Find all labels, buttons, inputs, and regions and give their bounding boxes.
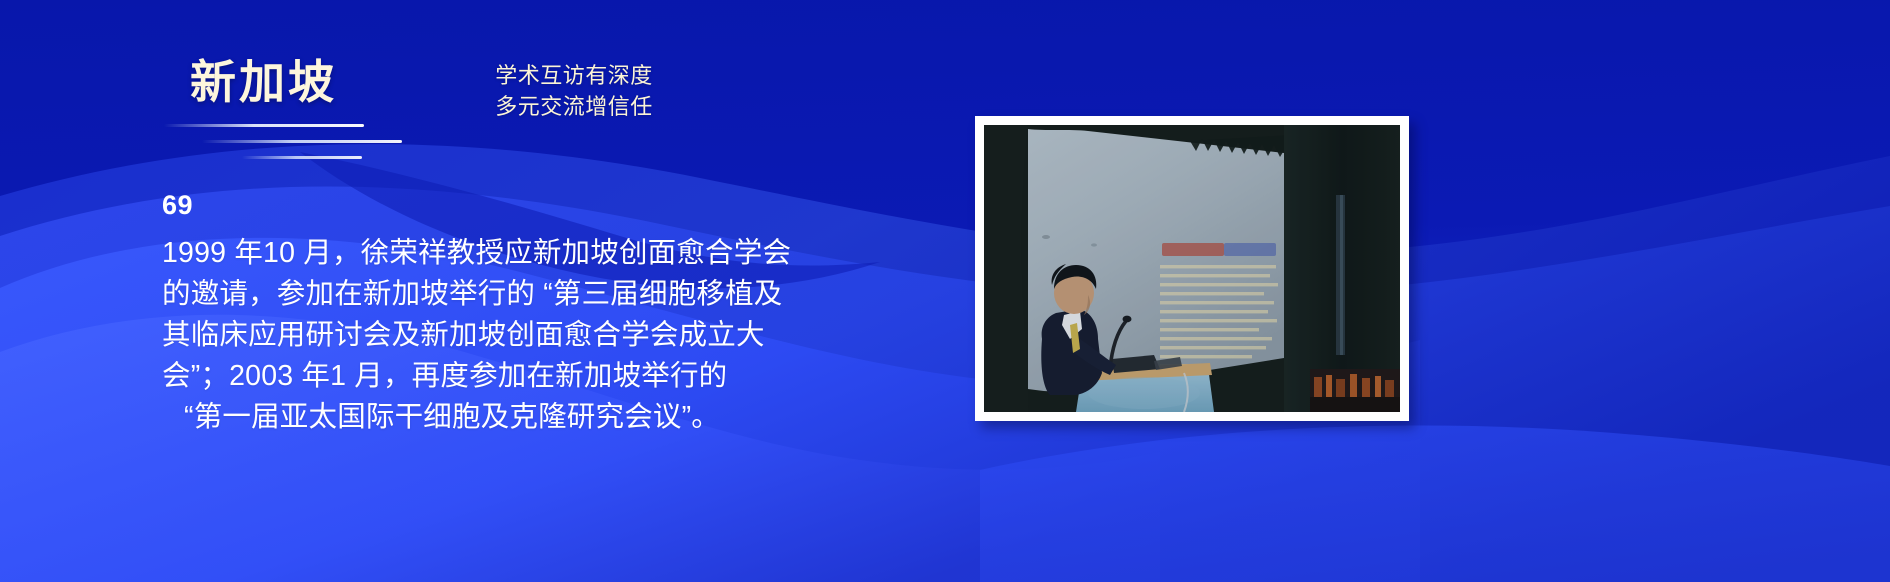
body-paragraph: 1999 年10 月，徐荣祥教授应新加坡创面愈合学会 的邀请，参加在新加坡举行的…	[162, 233, 882, 438]
item-number: 69	[162, 192, 882, 219]
photo-illustration	[984, 125, 1400, 412]
paragraph-line: “第一届亚太国际干细胞及克隆研究会议”。	[162, 397, 882, 438]
slide-root: 新加坡 学术互访有深度 多元交流增信任 69 1999 年10 月，徐荣祥教授应…	[0, 0, 1890, 582]
title-decorative-lines	[164, 124, 484, 168]
paragraph-line: 的邀请，参加在新加坡举行的 “第三届细胞移植及	[162, 274, 882, 315]
title-block: 新加坡	[190, 58, 520, 106]
paragraph-line: 会”；2003 年1 月，再度参加在新加坡举行的	[162, 356, 882, 397]
decorative-line-2	[202, 140, 402, 143]
body-block: 69 1999 年10 月，徐荣祥教授应新加坡创面愈合学会 的邀请，参加在新加坡…	[162, 192, 882, 438]
paragraph-line: 其临床应用研讨会及新加坡创面愈合学会成立大	[162, 315, 882, 356]
subtitle-block: 学术互访有深度 多元交流增信任	[484, 60, 664, 122]
decorative-line-3	[242, 156, 362, 159]
page-title: 新加坡	[190, 58, 520, 106]
photo-frame	[975, 116, 1409, 421]
subtitle-line-2: 多元交流增信任	[484, 91, 664, 122]
subtitle-line-1: 学术互访有深度	[484, 60, 664, 91]
paragraph-line: 1999 年10 月，徐荣祥教授应新加坡创面愈合学会	[162, 233, 882, 274]
conference-photo	[984, 125, 1400, 412]
decorative-line-1	[164, 124, 364, 127]
